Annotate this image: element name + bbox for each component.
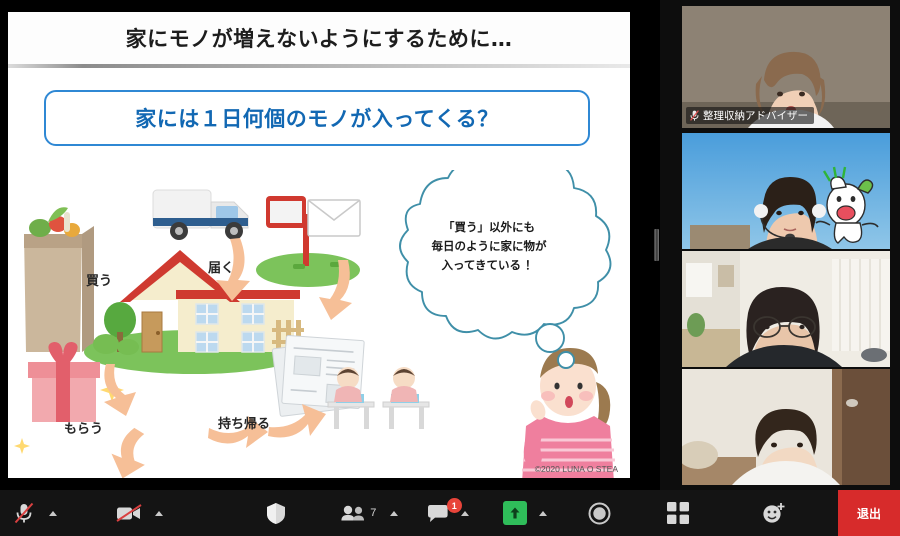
chevron-up-icon: [155, 511, 163, 516]
video-feed: [682, 251, 890, 367]
mute-options-caret[interactable]: [42, 490, 61, 536]
school-kids-icon: [328, 367, 429, 429]
video-feed: [682, 369, 890, 485]
thought-bubble-text: 「買う」以外にも 毎日のように家に物が 入ってきている ！: [360, 218, 618, 275]
video-off-icon: [116, 504, 142, 522]
label-buy: 買う: [86, 270, 112, 289]
grocery-bag-icon: [24, 207, 94, 352]
chevron-up-icon: [390, 511, 398, 516]
shield-icon: [266, 502, 286, 525]
video-button[interactable]: [109, 490, 149, 536]
label-deliver: 届く: [208, 257, 234, 276]
video-tile-participant-4[interactable]: [682, 369, 890, 485]
slide-title-divider: [8, 64, 630, 68]
share-options-caret[interactable]: [532, 490, 551, 536]
slide-title-bar: 家にモノが増えないようにするために…: [8, 12, 630, 64]
video-tile-active-speaker[interactable]: 整理収納アドバイザー: [682, 6, 890, 128]
zoom-meeting-window: 家にモノが増えないようにするために… 家には１日何個のモノが入ってくる？: [0, 0, 900, 536]
chevron-up-icon: [49, 511, 57, 516]
video-feed: [682, 133, 890, 249]
label-receive: もらう: [64, 418, 103, 437]
participants-count: 7: [370, 507, 376, 519]
thought-bubble: 「買う」以外にも 毎日のように家に物が 入ってきている ！: [360, 170, 618, 340]
record-icon: [588, 502, 611, 525]
security-button[interactable]: [256, 490, 296, 536]
video-options-caret[interactable]: [149, 490, 168, 536]
panel-splitter-handle[interactable]: [654, 229, 659, 261]
slide-question-text: 家には１日何個のモノが入ってくる？: [135, 103, 498, 133]
chat-button[interactable]: 1: [420, 490, 454, 536]
envelope-icon: [308, 200, 360, 236]
reactions-icon: [762, 502, 786, 524]
presentation-slide: 家にモノが増えないようにするために… 家には１日何個のモノが入ってくる？: [8, 12, 630, 478]
mute-button[interactable]: [6, 490, 42, 536]
reactions-button[interactable]: [755, 490, 793, 536]
participant-name-chip: 整理収納アドバイザー: [686, 107, 814, 124]
microphone-muted-icon: [14, 502, 34, 524]
label-bring-home: 持ち帰る: [218, 413, 270, 432]
participants-button[interactable]: 7: [333, 490, 383, 536]
participants-filmstrip: 整理収納アドバイザー: [660, 0, 900, 490]
leave-meeting-button[interactable]: 退出: [838, 490, 900, 536]
chat-icon: [427, 504, 449, 523]
chevron-up-icon: [539, 511, 547, 516]
participants-options-caret[interactable]: [383, 490, 402, 536]
chevron-up-icon: [461, 511, 469, 516]
microphone-muted-icon: [690, 110, 699, 121]
participants-icon: [340, 505, 366, 521]
record-button[interactable]: [581, 490, 617, 536]
delivery-truck-icon: [153, 190, 248, 240]
breakout-rooms-button[interactable]: [659, 490, 697, 536]
slide-copyright: ©2020 LUNA O STEA: [535, 464, 618, 474]
slide-question-box: 家には１日何個のモノが入ってくる？: [44, 90, 590, 146]
shared-screen-region[interactable]: 家にモノが増えないようにするために… 家には１日何個のモノが入ってくる？: [0, 0, 660, 490]
share-screen-button[interactable]: [498, 490, 532, 536]
video-tile-participant-2[interactable]: [682, 133, 890, 249]
breakout-rooms-icon: [667, 502, 689, 524]
participant-name-text: 整理収納アドバイザー: [703, 108, 808, 123]
chat-unread-badge: 1: [447, 498, 462, 513]
share-screen-icon: [503, 501, 527, 525]
video-tile-participant-3[interactable]: [682, 251, 890, 367]
chat-options-caret[interactable]: [455, 490, 474, 536]
slide-title: 家にモノが増えないようにするために…: [126, 23, 513, 53]
meeting-toolbar: 7 1: [0, 490, 900, 536]
